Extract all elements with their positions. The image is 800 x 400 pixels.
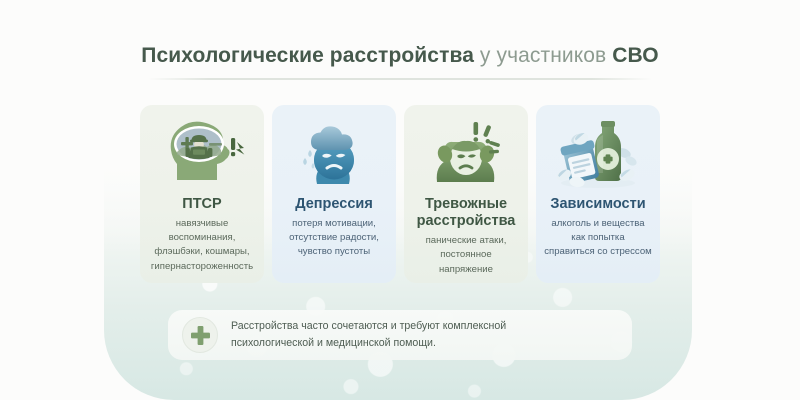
summary-note-text: Расстройства часто сочетаются и требуют … xyxy=(231,318,506,352)
page-title-soft: у участников xyxy=(474,44,612,67)
head-soldier-ptsd-icon xyxy=(146,115,258,193)
disorder-card-anxiety[interactable]: Тревожные расстройства панические атаки,… xyxy=(404,105,528,283)
disorder-card-title: ПТСР xyxy=(182,196,221,213)
summary-note: Расстройства часто сочетаются и требуют … xyxy=(168,310,632,360)
infographic-canvas: Психологические расстройства у участнико… xyxy=(0,0,800,400)
disorder-card-description: потеря мотивации, отсутствие радости, чу… xyxy=(287,217,381,260)
page-title: Психологические расстройства у участнико… xyxy=(0,44,800,68)
stressed-person-head-icon xyxy=(410,115,522,193)
disorder-card-title: Зависимости xyxy=(550,196,645,213)
bottle-pills-icon xyxy=(542,115,654,193)
page-title-strong: Психологические расстройства xyxy=(141,44,474,67)
title-divider xyxy=(148,78,652,80)
disorder-card-list: ПТСР навязчивые воспоминания, флэшбэки, … xyxy=(140,105,660,283)
disorder-card-description: алкоголь и вещества как попытка справить… xyxy=(542,217,654,260)
disorder-card-depression[interactable]: Депрессия потеря мотивации, отсутствие р… xyxy=(272,105,396,283)
disorder-card-description: панические атаки, постоянное напряжение xyxy=(410,234,522,277)
disorder-card-title: Тревожные расстройства xyxy=(417,196,516,230)
disorder-card-description: навязчивые воспоминания, флэшбэки, кошма… xyxy=(149,217,255,274)
disorder-card-title: Депрессия xyxy=(295,196,373,213)
page-title-acronym: СВО xyxy=(612,44,658,67)
disorder-card-addictions[interactable]: Зависимости алкоголь и вещества как попы… xyxy=(536,105,660,283)
disorder-card-ptsd[interactable]: ПТСР навязчивые воспоминания, флэшбэки, … xyxy=(140,105,264,283)
medical-cross-icon xyxy=(182,317,218,353)
sad-face-rain-cloud-icon xyxy=(278,115,390,193)
